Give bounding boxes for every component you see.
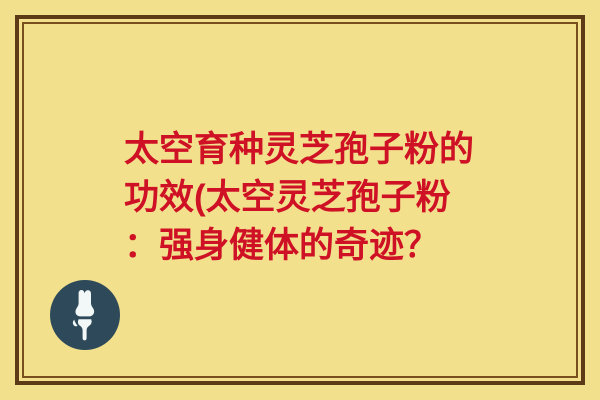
knee-joint-badge bbox=[50, 280, 120, 350]
banner-title: 太空育种灵芝孢子粉的 功效(太空灵芝孢子粉 ：强身健体的奇迹？ bbox=[124, 126, 496, 270]
title-line-3: ：强身健体的奇迹？ bbox=[124, 222, 496, 270]
knee-joint-icon bbox=[63, 289, 107, 341]
promo-banner: 太空育种灵芝孢子粉的 功效(太空灵芝孢子粉 ：强身健体的奇迹？ bbox=[0, 0, 600, 400]
title-line-1: 太空育种灵芝孢子粉的 bbox=[124, 126, 496, 174]
title-line-2: 功效(太空灵芝孢子粉 bbox=[124, 174, 496, 222]
